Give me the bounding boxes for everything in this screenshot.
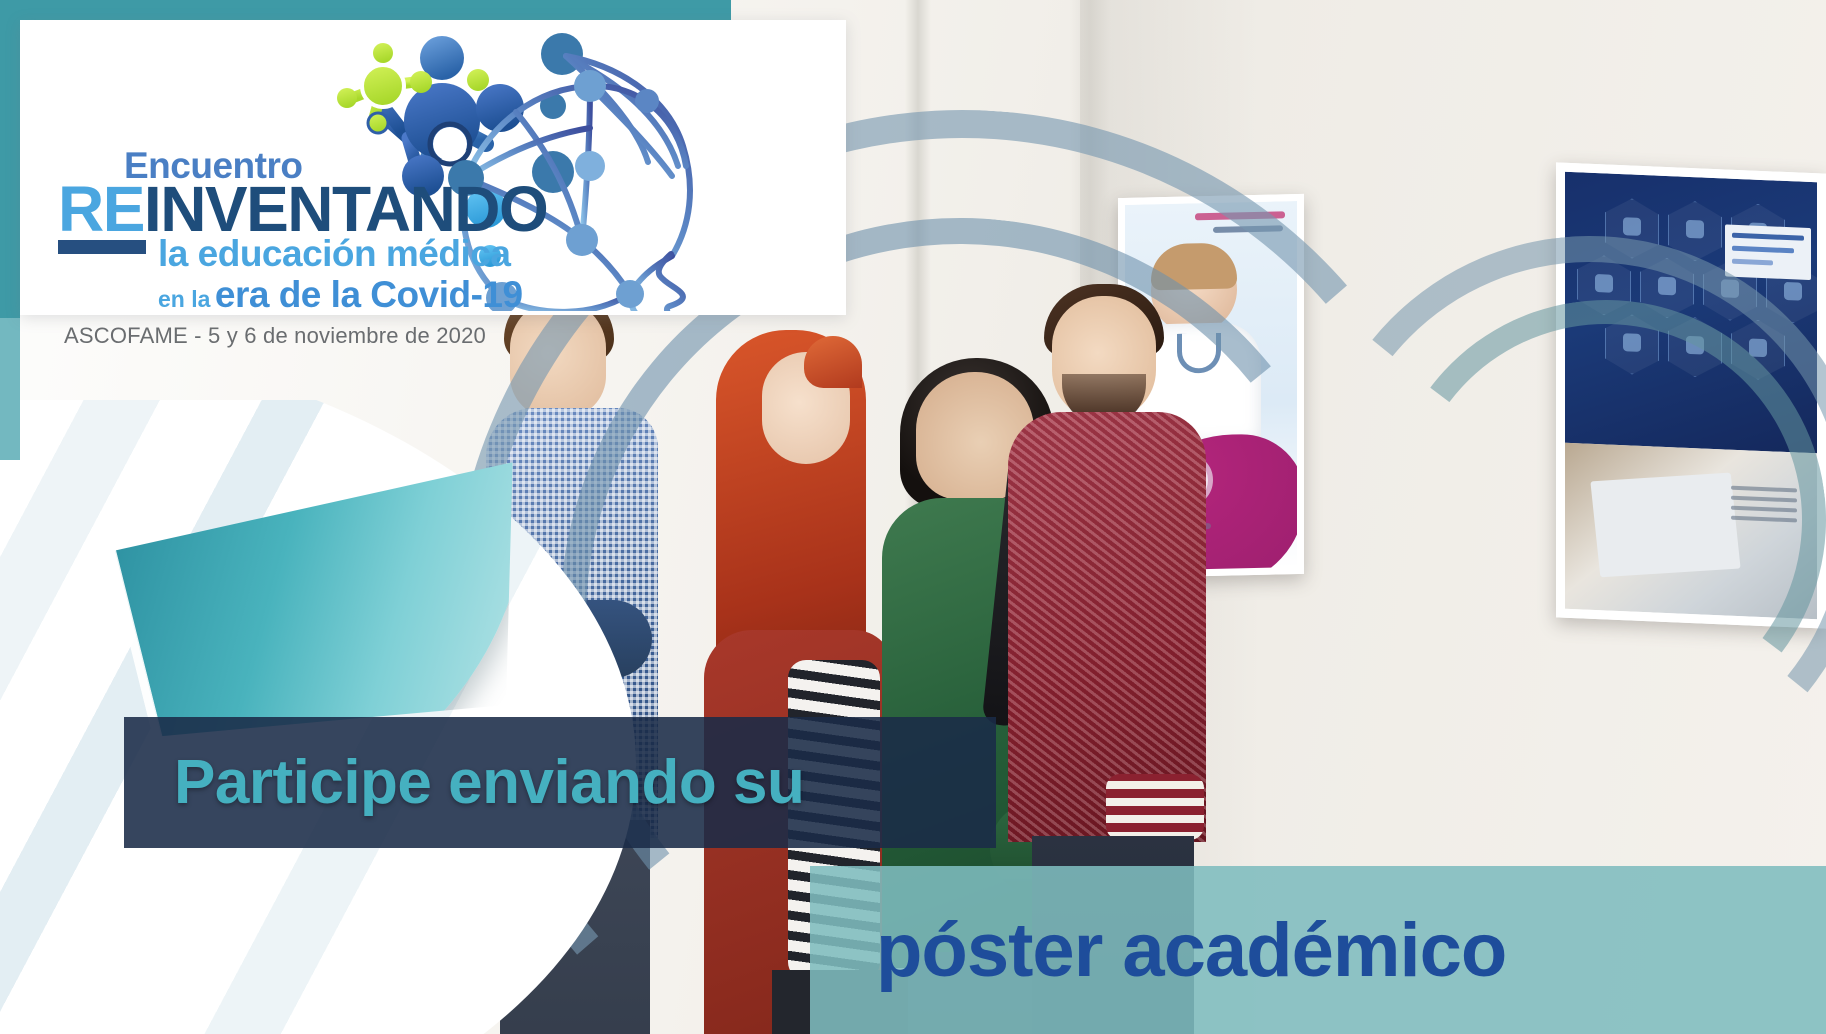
title-line-covid-prefix: en la — [158, 286, 210, 312]
event-title-block: Encuentro REINVENTANDO la educación médi… — [58, 148, 658, 349]
event-credit-line: ASCOFAME - 5 y 6 de noviembre de 2020 — [64, 323, 658, 349]
cta-line-2: póster académico — [876, 907, 1506, 994]
cta-band-primary: Participe enviando su — [124, 717, 996, 848]
cta-line-1: Participe enviando su — [174, 747, 804, 818]
title-re-highlight: RE — [58, 173, 144, 245]
title-line-covid: en la era de la Covid-19 — [158, 276, 658, 313]
frame-left-band-lower — [0, 318, 20, 460]
title-line-covid-main: era de la Covid-19 — [215, 274, 523, 315]
poster-callout-box — [1725, 224, 1811, 280]
event-logo-card: Encuentro REINVENTANDO la educación médi… — [20, 20, 846, 315]
frame-top-band — [0, 0, 731, 20]
poster-slide: Health IT — [0, 0, 1826, 1034]
cta-band-secondary: póster académico — [810, 866, 1826, 1034]
frame-left-band — [0, 0, 20, 318]
title-line-reinventando: REINVENTANDO — [58, 180, 658, 239]
title-line-educacion: la educación médica — [158, 236, 658, 271]
